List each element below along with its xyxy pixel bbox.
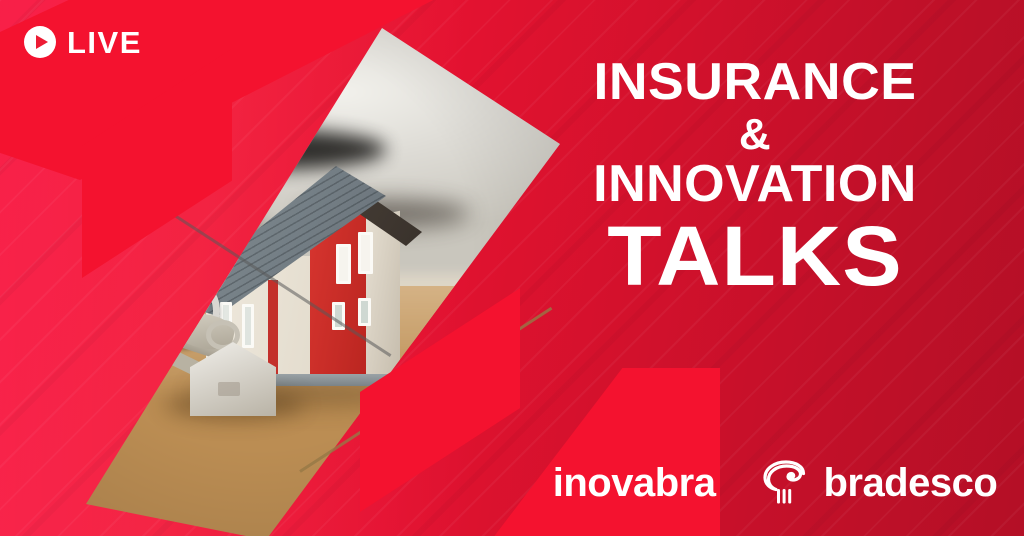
live-badge[interactable]: LIVE — [24, 26, 142, 58]
logo-lockup: inovabra bradesco — [560, 452, 990, 514]
promo-banner: LIVE INSURANCE & INNOVATION TALKS inovab… — [0, 0, 1024, 536]
play-circle-icon — [24, 26, 56, 58]
bradesco-tree-icon — [759, 460, 813, 506]
bradesco-wordmark: bradesco — [823, 463, 997, 503]
headline-line-talks: TALKS — [506, 216, 1004, 297]
inovabra-logo: inovabra — [553, 463, 716, 503]
headline-line-ampersand: & — [520, 114, 990, 156]
live-label: LIVE — [67, 27, 142, 58]
headline-block: INSURANCE & INNOVATION TALKS — [520, 58, 990, 297]
bradesco-logo: bradesco — [759, 460, 997, 506]
headline-line-insurance: INSURANCE — [513, 58, 997, 108]
headline-line-innovation: INNOVATION — [520, 160, 990, 210]
play-triangle-icon — [36, 35, 48, 49]
